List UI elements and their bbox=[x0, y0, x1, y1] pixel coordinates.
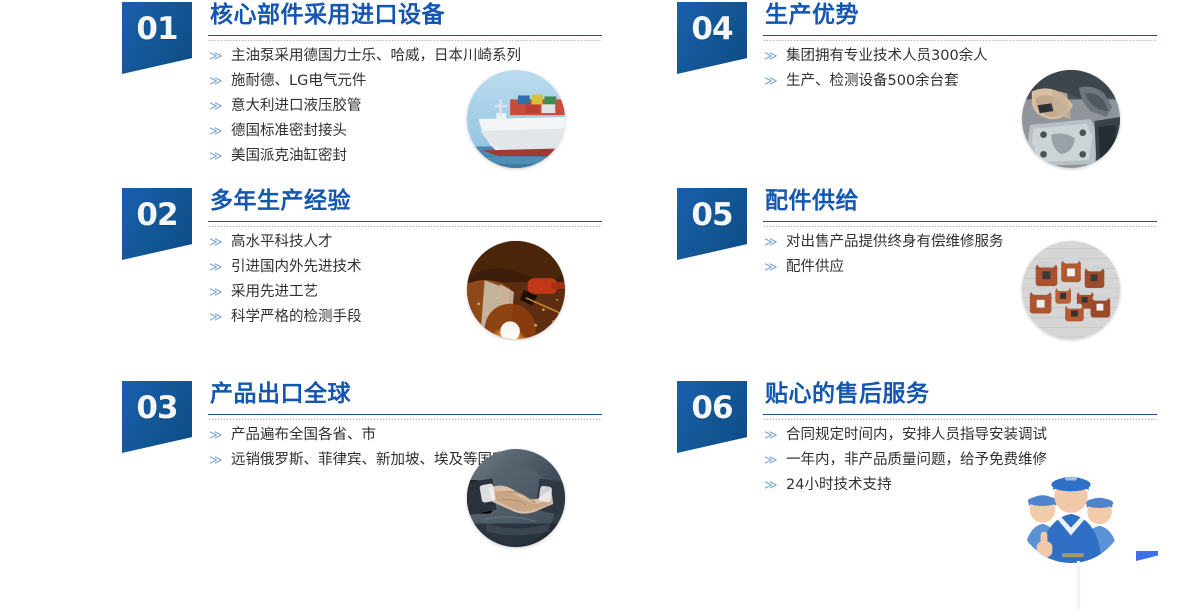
bullet-text: 配件供应 bbox=[786, 259, 844, 275]
machining-parts-photo bbox=[1022, 70, 1120, 168]
chevron-right-icon: ≫ bbox=[764, 230, 778, 255]
badge-number-text: 02 bbox=[122, 200, 192, 231]
badge-number-text: 05 bbox=[677, 200, 747, 231]
feature-header-03: 产品出口全球 bbox=[208, 379, 602, 420]
divider-dotted bbox=[763, 224, 1157, 227]
chevron-right-icon: ≫ bbox=[209, 305, 223, 330]
chevron-right-icon: ≫ bbox=[764, 255, 778, 280]
badge-number-text: 06 bbox=[677, 393, 747, 424]
service-team-photo bbox=[1017, 455, 1125, 563]
chevron-right-icon: ≫ bbox=[209, 69, 223, 94]
chevron-right-icon: ≫ bbox=[764, 423, 778, 448]
bullet-text: 科学严格的检测手段 bbox=[231, 309, 362, 325]
bullet-text: 采用先进工艺 bbox=[231, 284, 318, 300]
list-item: ≫集团拥有专业技术人员300余人 bbox=[763, 44, 1163, 69]
chevron-right-icon: ≫ bbox=[764, 448, 778, 473]
divider-solid bbox=[208, 414, 602, 415]
feature-block-03: 03 产品出口全球 ≫产品遍布全国各省、市 ≫远销俄罗斯、菲律宾、新加坡、埃及等… bbox=[122, 379, 602, 572]
chevron-right-icon: ≫ bbox=[209, 280, 223, 305]
list-item: ≫对出售产品提供终身有偿维修服务 bbox=[763, 230, 1163, 255]
welding-photo bbox=[467, 241, 565, 339]
chevron-right-icon: ≫ bbox=[209, 94, 223, 119]
feature-header-05: 配件供给 bbox=[763, 186, 1157, 227]
feature-block-01: 01 核心部件采用进口设备 ≫主油泵采用德国力士乐、哈威，日本川崎系列 ≫施耐德… bbox=[122, 0, 602, 193]
badge-number-text: 04 bbox=[677, 14, 747, 45]
feature-block-02: 02 多年生产经验 ≫高水平科技人才 ≫引进国内外先进技术 ≫采用先进工艺 ≫科… bbox=[122, 186, 602, 379]
divider-solid bbox=[763, 221, 1157, 222]
bullet-text: 施耐德、LG电气元件 bbox=[231, 73, 366, 89]
list-item: ≫主油泵采用德国力士乐、哈威，日本川崎系列 bbox=[208, 44, 608, 69]
divider-dotted bbox=[208, 38, 602, 41]
features-grid: 01 核心部件采用进口设备 ≫主油泵采用德国力士乐、哈威，日本川崎系列 ≫施耐德… bbox=[0, 0, 1200, 609]
advantages-page: 01 核心部件采用进口设备 ≫主油泵采用德国力士乐、哈威，日本川崎系列 ≫施耐德… bbox=[0, 0, 1200, 609]
badge-number-text: 03 bbox=[122, 393, 192, 424]
bullet-text: 美国派克油缸密封 bbox=[231, 148, 347, 164]
bullet-text: 主油泵采用德国力士乐、哈威，日本川崎系列 bbox=[231, 48, 521, 64]
feature-header-06: 贴心的售后服务 bbox=[763, 379, 1157, 420]
container-ship-photo bbox=[467, 70, 565, 168]
feature-block-04: 04 生产优势 ≫集团拥有专业技术人员300余人 ≫生产、检测设备500余台套 bbox=[677, 0, 1157, 193]
bullet-text: 产品遍布全国各省、市 bbox=[231, 427, 376, 443]
divider-dotted bbox=[208, 417, 602, 420]
bullet-text: 对出售产品提供终身有偿维修服务 bbox=[786, 234, 1004, 250]
feature-title-02: 多年生产经验 bbox=[208, 186, 602, 216]
corner-divider bbox=[1077, 561, 1080, 609]
feature-header-02: 多年生产经验 bbox=[208, 186, 602, 227]
feature-title-01: 核心部件采用进口设备 bbox=[208, 0, 602, 30]
number-badge-04: 04 bbox=[677, 2, 747, 74]
divider-solid bbox=[208, 35, 602, 36]
chevron-right-icon: ≫ bbox=[764, 69, 778, 94]
chevron-right-icon: ≫ bbox=[209, 448, 223, 473]
divider-solid bbox=[763, 414, 1157, 415]
chevron-right-icon: ≫ bbox=[209, 44, 223, 69]
chevron-right-icon: ≫ bbox=[209, 255, 223, 280]
chevron-right-icon: ≫ bbox=[209, 423, 223, 448]
bullet-text: 高水平科技人才 bbox=[231, 234, 333, 250]
feature-header-01: 核心部件采用进口设备 bbox=[208, 0, 602, 41]
feature-block-05: 05 配件供给 ≫对出售产品提供终身有偿维修服务 ≫配件供应 bbox=[677, 186, 1157, 379]
chevron-right-icon: ≫ bbox=[209, 119, 223, 144]
divider-dotted bbox=[763, 38, 1157, 41]
number-badge-01: 01 bbox=[122, 2, 192, 74]
bullet-text: 一年内，非产品质量问题，给予免费维修 bbox=[786, 452, 1047, 468]
number-badge-05: 05 bbox=[677, 188, 747, 260]
feature-title-05: 配件供给 bbox=[763, 186, 1157, 216]
chevron-right-icon: ≫ bbox=[209, 144, 223, 169]
list-item: ≫产品遍布全国各省、市 bbox=[208, 423, 608, 448]
bullet-text: 合同规定时间内，安排人员指导安装调试 bbox=[786, 427, 1047, 443]
copper-bushings-photo bbox=[1022, 241, 1120, 339]
feature-title-04: 生产优势 bbox=[763, 0, 1157, 30]
divider-dotted bbox=[208, 224, 602, 227]
feature-title-06: 贴心的售后服务 bbox=[763, 379, 1157, 409]
bullet-text: 24小时技术支持 bbox=[786, 477, 891, 493]
bullet-text: 德国标准密封接头 bbox=[231, 123, 347, 139]
bullet-text: 引进国内外先进技术 bbox=[231, 259, 362, 275]
feature-block-06: 06 贴心的售后服务 ≫合同规定时间内，安排人员指导安装调试 ≫一年内，非产品质… bbox=[677, 379, 1157, 572]
divider-dotted bbox=[763, 417, 1157, 420]
list-item: ≫合同规定时间内，安排人员指导安装调试 bbox=[763, 423, 1163, 448]
bullet-text: 远销俄罗斯、菲律宾、新加坡、埃及等国家 bbox=[231, 452, 507, 468]
chevron-right-icon: ≫ bbox=[764, 473, 778, 498]
bullet-text: 生产、检测设备500余台套 bbox=[786, 73, 959, 89]
number-badge-06: 06 bbox=[677, 381, 747, 453]
chevron-right-icon: ≫ bbox=[209, 230, 223, 255]
badge-number-text: 01 bbox=[122, 14, 192, 45]
list-item: ≫高水平科技人才 bbox=[208, 230, 608, 255]
number-badge-03: 03 bbox=[122, 381, 192, 453]
handshake-globe-photo bbox=[467, 449, 565, 547]
bullet-text: 集团拥有专业技术人员300余人 bbox=[786, 48, 988, 64]
bullet-text: 意大利进口液压胶管 bbox=[231, 98, 362, 114]
feature-title-03: 产品出口全球 bbox=[208, 379, 602, 409]
feature-header-04: 生产优势 bbox=[763, 0, 1157, 41]
number-badge-02: 02 bbox=[122, 188, 192, 260]
divider-solid bbox=[208, 221, 602, 222]
divider-solid bbox=[763, 35, 1157, 36]
chevron-right-icon: ≫ bbox=[764, 44, 778, 69]
